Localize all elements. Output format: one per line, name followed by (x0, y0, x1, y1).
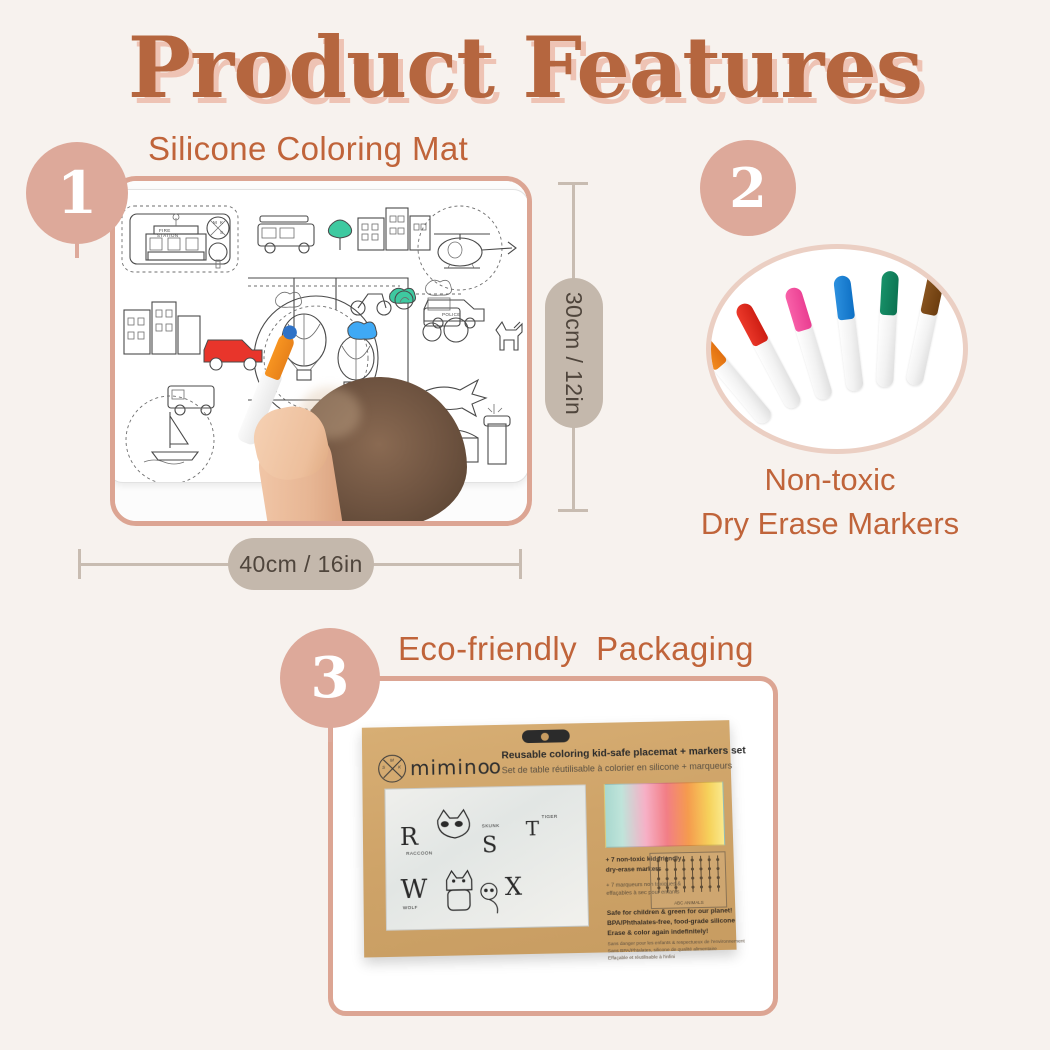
width-dimension-cap-right (519, 549, 522, 579)
page-title: Product Features (0, 18, 1050, 117)
abc-animals-thumbnail: ABC ANIMALS (649, 851, 727, 909)
brand-name: miminoo (410, 755, 500, 781)
svg-text:STATION: STATION (157, 233, 178, 238)
package-title-fr: Set de table réutilisable à colorier en … (502, 761, 733, 776)
product-package-box: M K S miminoo Reusable coloring kid-safe… (362, 720, 737, 957)
marker-cap (920, 270, 946, 317)
markers-photo-circle (706, 244, 968, 454)
package-window-markers (604, 782, 726, 848)
package-title-en: Reusable coloring kid-safe placemat + ma… (501, 745, 745, 761)
marker-cap (783, 286, 812, 333)
infographic-canvas: Product Features 1 Silicone Coloring Mat… (0, 0, 1050, 1050)
step-badge-3-number: 3 (311, 645, 350, 711)
marker-green (876, 271, 899, 388)
step-badge-3: 3 (280, 628, 380, 728)
step-badge-1-number: 1 (57, 159, 97, 227)
svg-text:S: S (220, 230, 223, 235)
height-dimension-text: 30cm / 12in (561, 291, 588, 414)
badge-stem (75, 242, 79, 258)
marker-cap (880, 271, 899, 316)
packaging-photo-frame: M K S miminoo Reusable coloring kid-safe… (328, 676, 778, 1016)
coloring-mat-photo-frame: FIRE STATION M K S (110, 176, 532, 526)
brand-monogram-icon: M K S (378, 754, 406, 782)
placemat-letter-S: S (482, 833, 498, 858)
package-claim-fr-2: Sans BPA/Phtalates, silicone de qualité … (608, 947, 717, 954)
package-window-placemat: R RACCOON S SKUNK T TIGER W WOLF (384, 784, 589, 930)
svg-text:POLICE: POLICE (442, 312, 461, 317)
placemat-word-wolf: WOLF (403, 905, 418, 910)
hang-hole-icon (522, 729, 570, 743)
section-2-caption-line2: Dry Erase Markers (620, 502, 1040, 546)
svg-text:M: M (213, 220, 217, 225)
section-2-caption: Non-toxic Dry Erase Markers (620, 458, 1040, 546)
marker-brown (905, 270, 946, 387)
step-badge-2-number: 2 (729, 156, 767, 220)
step-badge-2: 2 (700, 140, 796, 236)
coloring-mat-photo: FIRE STATION M K S (115, 181, 527, 521)
package-claim-en-3: Erase & color again indefinitely! (607, 928, 708, 937)
placemat-letter-R: R (400, 823, 418, 851)
wolf-illustration (438, 867, 479, 916)
height-dimension-label: 30cm / 12in (545, 278, 603, 428)
section-1-heading: Silicone Coloring Mat (148, 130, 468, 168)
marker-cap (734, 301, 770, 348)
placemat-letter-W: W (400, 875, 427, 906)
marker-cap (833, 275, 855, 321)
package-claim-fr-1: Sans danger pour les enfants & respectue… (608, 939, 745, 947)
section-2-caption-line1: Non-toxic (620, 458, 1040, 502)
height-dimension-cap-top (558, 182, 588, 185)
marker-blue (833, 275, 864, 392)
width-dimension-label: 40cm / 16in (228, 538, 374, 590)
package-claim-en-1: Safe for children & green for our planet… (607, 907, 733, 917)
placemat-word-tiger: TIGER (542, 814, 558, 819)
abc-animals-caption: ABC ANIMALS (652, 899, 726, 906)
height-dimension-cap-bottom (558, 509, 588, 512)
package-claim-fr-3: Effaçable et réutilisable à l'infini (608, 955, 675, 961)
placemat-word-skunk: SKUNK (482, 823, 500, 828)
abc-glyph-grid (654, 855, 723, 899)
section-3-heading: Eco-friendly Packaging (398, 630, 754, 668)
placemat-letter-T: T (526, 816, 540, 840)
width-dimension-cap-left (78, 549, 81, 579)
badge-stem (328, 726, 332, 742)
package-claim-en-2: BPA/Phthalates-free, food-grade silicone (607, 917, 735, 927)
marker-barrel (876, 303, 897, 388)
placemat-word-raccoon: RACCOON (406, 850, 432, 856)
raccoon-illustration (430, 806, 475, 847)
sloth-illustration (475, 879, 512, 916)
step-badge-1: 1 (26, 142, 128, 244)
